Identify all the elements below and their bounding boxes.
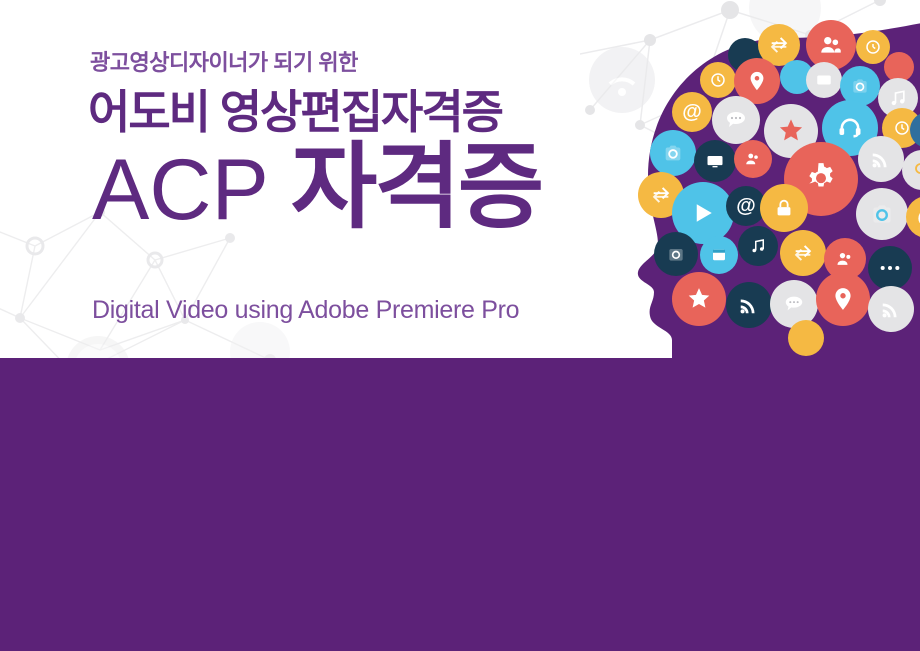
head-profile-graphic: @ xyxy=(610,0,920,358)
poster-eyebrow-text: 광고영상디자이너가 되기 위한 xyxy=(90,45,358,77)
social-media-icon-cluster: @ xyxy=(610,0,920,358)
poster-bottom-band: 세명대 광고홍보학과 특별 프로그램! 교육비 무료 응시료 무료 취업 필수 … xyxy=(0,358,920,651)
poster-title-korean: 자격증 xyxy=(291,134,541,239)
promotional-poster: @ xyxy=(0,0,920,651)
poster-top-section: @ xyxy=(0,0,920,358)
poster-title-large: ACP자격증 xyxy=(92,140,541,234)
poster-title-main: 어도비 영상편집자격증 xyxy=(88,76,502,142)
poster-title-acp: ACP xyxy=(92,142,269,238)
poster-subtitle-english: Digital Video using Adobe Premiere Pro xyxy=(92,296,519,325)
